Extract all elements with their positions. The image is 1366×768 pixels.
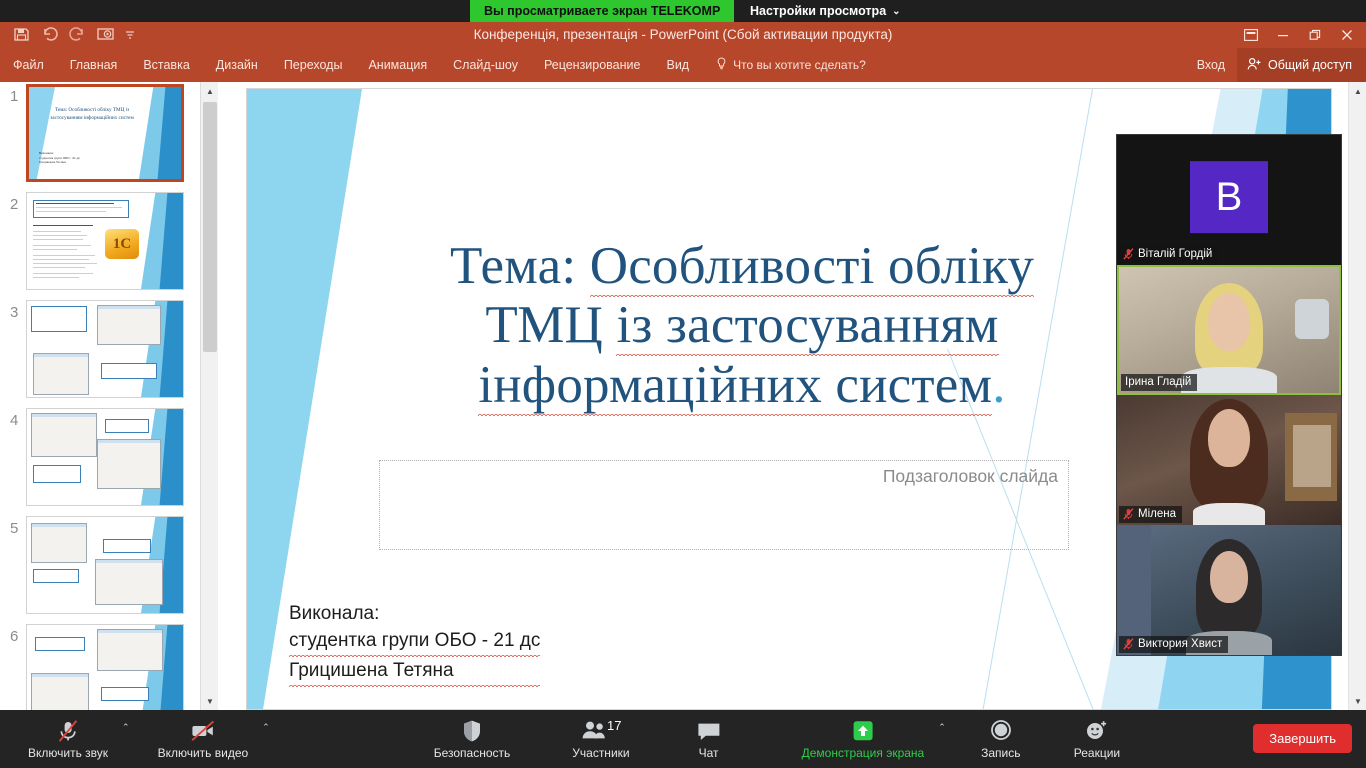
share-button-label: Общий доступ: [1268, 58, 1352, 72]
thumbnail-frame[interactable]: 1C: [26, 192, 184, 290]
thumbnail-callout: [105, 419, 149, 433]
author-line-1: Виконала:: [289, 601, 540, 628]
window-controls[interactable]: [1236, 22, 1362, 48]
sharing-status-banner: Вы просматриваете экран TELEKOMP: [470, 0, 734, 22]
thumbnail-slide-5[interactable]: 5: [0, 514, 200, 621]
scroll-up-icon[interactable]: ▲: [1349, 82, 1366, 100]
thumbnail-number: 3: [10, 304, 18, 321]
chat-label: Чат: [699, 746, 719, 760]
participant-name: Виктория Хвист: [1138, 638, 1222, 650]
thumbnail-number: 6: [10, 628, 18, 645]
lightbulb-icon: [716, 57, 727, 73]
avatar: В: [1190, 161, 1268, 233]
record-label: Запись: [981, 746, 1020, 760]
thumbnail-slide-2[interactable]: 2: [0, 190, 200, 297]
start-video-label: Включить видео: [158, 746, 249, 760]
chat-bubble-icon: [696, 719, 722, 743]
author-line-3: Грицишена Тетяна: [289, 658, 540, 688]
share-screen-icon: [849, 719, 877, 743]
security-label: Безопасность: [434, 746, 511, 760]
unmute-audio-label: Включить звук: [28, 746, 108, 760]
reactions-icon: [1084, 719, 1110, 743]
thumbnail-slide-4[interactable]: 4: [0, 406, 200, 513]
thumbnail-author-text: Виконала:студентка групи ОБО - 21 дсГриц…: [39, 151, 80, 165]
share-screen-label: Демонстрация экрана: [802, 746, 925, 760]
participant-name: Віталій Гордій: [1138, 248, 1212, 260]
slide-author-textbox[interactable]: Виконала: студентка групи ОБО - 21 дс Гр…: [289, 601, 540, 688]
ribbon-tab-transitions[interactable]: Переходы: [271, 52, 356, 78]
thumbnail-screenshot: [97, 439, 161, 489]
thumbnail-scrollbar[interactable]: ▲ ▼: [200, 82, 218, 710]
audio-options-caret[interactable]: ⌃: [118, 722, 134, 733]
minimize-button[interactable]: [1268, 22, 1298, 48]
person-add-icon: [1247, 57, 1262, 74]
scroll-down-icon[interactable]: ▼: [201, 692, 219, 710]
ribbon-tab-review[interactable]: Рецензирование: [531, 52, 654, 78]
mic-muted-icon: [1123, 508, 1134, 520]
thumbnail-screenshot: [97, 629, 163, 671]
ribbon-display-options-button[interactable]: [1236, 22, 1266, 48]
thumbnail-preview: [27, 409, 183, 505]
participant-name-tag: Віталій Гордій: [1119, 246, 1218, 263]
participant-filmstrip[interactable]: В Віталій Гордій Ірина Гладій: [1116, 134, 1342, 656]
thumbnail-callout: [103, 539, 151, 553]
screen-root: Конференція, презентація - PowerPoint (С…: [0, 0, 1366, 768]
reactions-button[interactable]: Реакции: [1064, 710, 1130, 768]
slide-title-line-3: інформаційних систем.: [397, 356, 1087, 415]
participant-tile[interactable]: В Віталій Гордій: [1117, 135, 1341, 265]
thumbnail-callout: [101, 363, 157, 379]
slide-title-textbox[interactable]: Тема: Особливості обліку ТМЦ із застосув…: [397, 237, 1087, 415]
thumbnail-number: 1: [10, 88, 18, 105]
thumbnail-number: 2: [10, 196, 18, 213]
thumbnail-slide-6[interactable]: 6: [0, 622, 200, 710]
thumbnail-preview: 1C: [27, 193, 183, 289]
slide-title-line-1: Тема: Особливості обліку: [397, 237, 1087, 296]
slide-title-line-2: ТМЦ із застосуванням: [397, 296, 1087, 355]
thumbnail-screenshot: [31, 523, 87, 563]
participant-tile[interactable]: Виктория Хвист: [1117, 525, 1341, 655]
scroll-up-icon[interactable]: ▲: [201, 82, 219, 100]
zoom-control-bar: Включить звук ⌃ Включить видео ⌃ Безопас…: [0, 710, 1366, 768]
thumbnail-frame[interactable]: [26, 624, 184, 710]
participant-name: Ірина Гладій: [1125, 376, 1191, 388]
tell-me-label: Что вы хотите сделать?: [733, 58, 866, 72]
thumbnail-callout: [33, 465, 81, 483]
thumbnail-preview: [27, 517, 183, 613]
thumbnail-screenshot: [95, 559, 163, 605]
participants-button[interactable]: 17 Участники: [562, 710, 639, 768]
share-screen-button[interactable]: Демонстрация экрана: [792, 710, 935, 768]
view-options-button[interactable]: Настройки просмотра ⌄: [738, 0, 913, 22]
thumbnail-screenshot: [33, 353, 89, 395]
thumbnail-slide-3[interactable]: 3: [0, 298, 200, 405]
share-button[interactable]: Общий доступ: [1237, 48, 1366, 82]
slide-vertical-scrollbar[interactable]: ▲ ▼: [1348, 82, 1366, 710]
chevron-down-icon: ⌄: [892, 6, 900, 17]
start-video-button[interactable]: Включить видео: [148, 710, 259, 768]
thumbnail-preview: [27, 625, 183, 710]
ribbon-tab-insert[interactable]: Вставка: [130, 52, 202, 78]
ribbon-tab-home[interactable]: Главная: [57, 52, 131, 78]
thumbnail-screenshot: [31, 413, 97, 457]
thumbnail-callout: [33, 569, 79, 583]
logo-1c-icon: 1C: [105, 229, 139, 259]
mic-muted-icon: [57, 719, 79, 743]
thumbnail-callout: [31, 306, 87, 332]
close-button[interactable]: [1332, 22, 1362, 48]
ribbon-tab-view[interactable]: Вид: [653, 52, 702, 78]
thumbnail-slide-1[interactable]: 1 Тема: Особливості обліку ТМЦ із застос…: [0, 82, 200, 189]
ribbon-tabs: Файл Главная Вставка Дизайн Переходы Ани…: [0, 48, 1366, 82]
ribbon-tab-file[interactable]: Файл: [0, 52, 57, 78]
thumbnail-title-text: Тема: Особливості обліку ТМЦ із застосув…: [43, 107, 141, 122]
thumbnail-number: 5: [10, 520, 18, 537]
unmute-audio-button[interactable]: Включить звук: [18, 710, 118, 768]
tell-me-search[interactable]: Что вы хотите сделать?: [716, 57, 866, 73]
mic-muted-icon: [1123, 638, 1134, 650]
scrollbar-thumb[interactable]: [203, 102, 217, 352]
sign-in-button[interactable]: Вход: [1185, 52, 1237, 78]
ribbon-tab-slideshow[interactable]: Слайд-шоу: [440, 52, 531, 78]
thumbnail-callout: [101, 687, 149, 701]
participants-label: Участники: [572, 746, 629, 760]
shield-icon: [461, 719, 483, 743]
svg-text:17: 17: [607, 719, 621, 733]
people-icon: 17: [581, 719, 621, 743]
participant-tile[interactable]: Мілена: [1117, 395, 1341, 525]
video-options-caret[interactable]: ⌃: [258, 722, 274, 733]
record-button[interactable]: Запись: [970, 710, 1032, 768]
reactions-label: Реакции: [1074, 746, 1120, 760]
restore-button[interactable]: [1300, 22, 1330, 48]
slide-subtitle-text: Подзаголовок слайда: [883, 466, 1058, 487]
participant-name-tag: Виктория Хвист: [1119, 636, 1228, 653]
participant-name-tag: Мілена: [1119, 506, 1182, 523]
zoom-sharing-topbar: Вы просматриваете экран TELEKOMP Настрой…: [0, 0, 1366, 22]
thumbnail-number: 4: [10, 412, 18, 429]
thumbnail-frame[interactable]: [26, 408, 184, 506]
author-line-2: студентка групи ОБО - 21 дс: [289, 628, 540, 658]
window-title: Конференція, презентація - PowerPoint (С…: [0, 27, 1366, 42]
chat-button[interactable]: Чат: [678, 710, 740, 768]
slide-thumbnail-pane[interactable]: 1 Тема: Особливості обліку ТМЦ із застос…: [0, 82, 218, 710]
thumbnail-frame[interactable]: [26, 516, 184, 614]
record-circle-icon: [989, 719, 1013, 743]
participant-name-tag: Ірина Гладій: [1121, 374, 1197, 391]
end-meeting-button[interactable]: Завершить: [1253, 724, 1352, 753]
thumbnail-screenshot: [31, 673, 89, 710]
view-options-label: Настройки просмотра: [750, 4, 886, 18]
thumbnail-callout: [35, 637, 85, 651]
decor-wedge-left: [29, 87, 55, 179]
ribbon-tab-animations[interactable]: Анимация: [355, 52, 440, 78]
ribbon-tab-design[interactable]: Дизайн: [203, 52, 271, 78]
participant-name: Мілена: [1138, 508, 1176, 520]
scroll-down-icon[interactable]: ▼: [1349, 692, 1366, 710]
participant-tile[interactable]: Ірина Гладій: [1117, 265, 1341, 395]
slide-subtitle-placeholder[interactable]: Подзаголовок слайда: [379, 460, 1069, 550]
thumbnail-screenshot: [97, 305, 161, 345]
camera-off-icon: [190, 719, 216, 743]
mic-muted-icon: [1123, 248, 1134, 260]
ribbon-right-group: Вход Общий доступ: [1185, 48, 1366, 82]
share-options-caret[interactable]: ⌃: [934, 722, 950, 733]
thumbnail-frame[interactable]: Тема: Особливості обліку ТМЦ із застосув…: [26, 84, 184, 182]
thumbnail-preview: Тема: Особливості обліку ТМЦ із застосув…: [29, 87, 181, 179]
thumbnail-frame[interactable]: [26, 300, 184, 398]
thumbnail-preview: [27, 301, 183, 397]
security-button[interactable]: Безопасность: [424, 710, 521, 768]
